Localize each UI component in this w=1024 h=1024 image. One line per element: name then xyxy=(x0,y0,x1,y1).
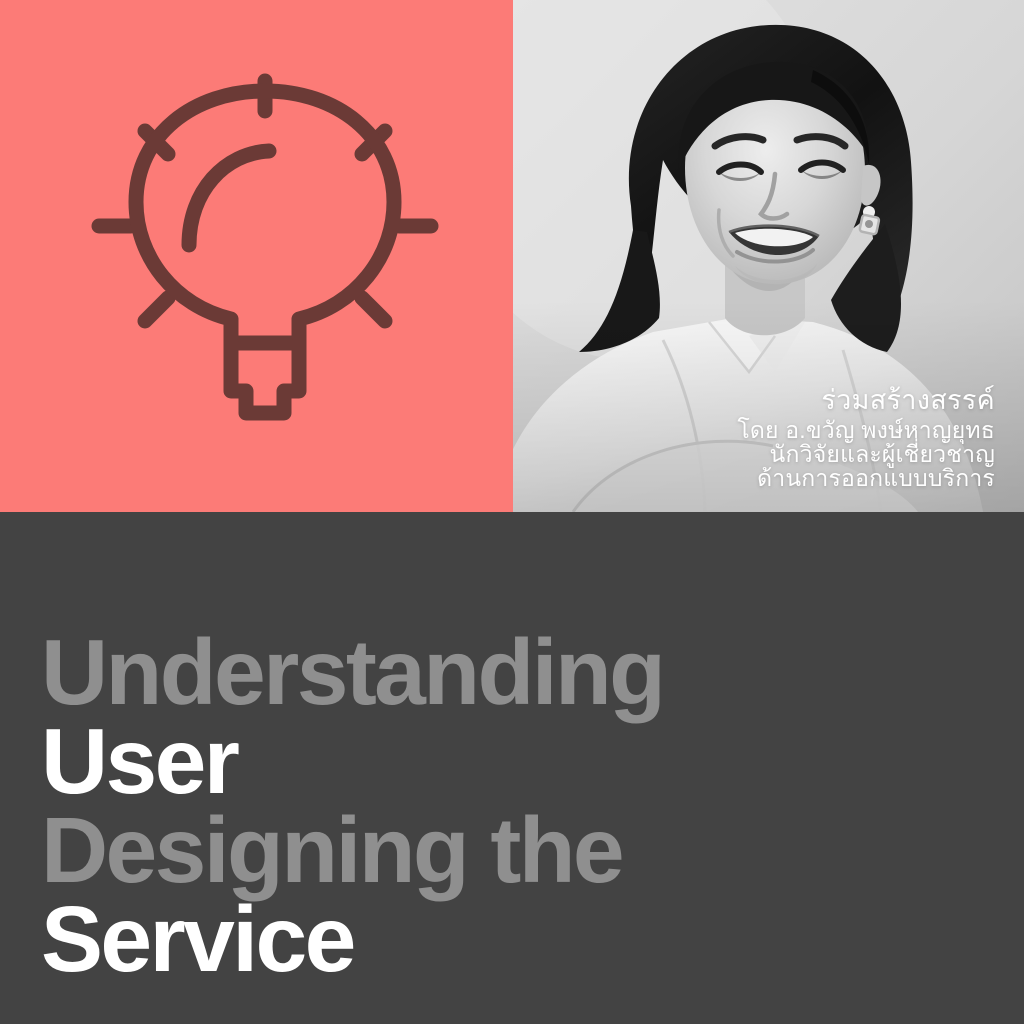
caption-line-2: นักวิจัยและผู้เชี่ยวชาญ xyxy=(737,443,995,466)
portrait-photo: ร่วมสร้างสรรค์ โดย อ.ขวัญ พงษ์หาญยุทธ นั… xyxy=(513,0,1024,512)
headline-line-2: User xyxy=(41,717,663,806)
page-title: Understanding User Designing the Service xyxy=(41,628,663,984)
headline-line-1: Understanding xyxy=(41,628,663,717)
photo-caption: ร่วมสร้างสรรค์ โดย อ.ขวัญ พงษ์หาญยุทธ นั… xyxy=(737,387,995,490)
icon-panel xyxy=(0,0,513,512)
caption-heading: ร่วมสร้างสรรค์ xyxy=(737,387,995,414)
lightbulb-icon xyxy=(83,73,447,437)
caption-line-3: ด้านการออกแบบบริการ xyxy=(737,467,995,490)
caption-line-1: โดย อ.ขวัญ พงษ์หาญยุทธ xyxy=(737,419,995,442)
title-block: Understanding User Designing the Service xyxy=(0,512,1024,1024)
headline-line-4: Service xyxy=(41,895,663,984)
poster-canvas: ร่วมสร้างสรรค์ โดย อ.ขวัญ พงษ์หาญยุทธ นั… xyxy=(0,0,1024,1024)
headline-line-3: Designing the xyxy=(41,806,663,895)
